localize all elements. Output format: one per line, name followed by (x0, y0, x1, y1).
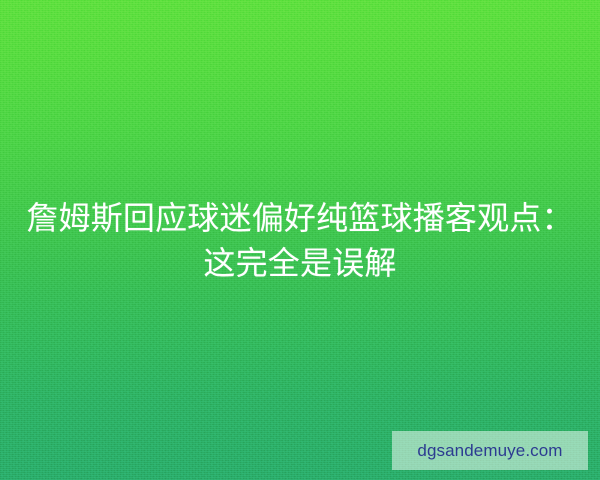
watermark-site-url: dgsandemuye.com (417, 442, 562, 459)
page-title: 詹姆斯回应球迷偏好纯篮球播客观点：这完全是误解 (22, 196, 578, 286)
watermark-badge: dgsandemuye.com (392, 431, 588, 470)
cover-image-canvas: 詹姆斯回应球迷偏好纯篮球播客观点：这完全是误解 dgsandemuye.com (0, 0, 600, 480)
